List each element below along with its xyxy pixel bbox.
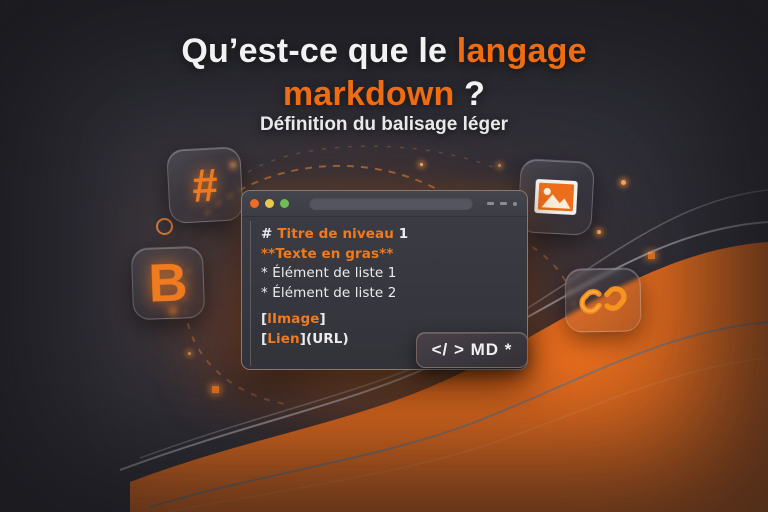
restore-icon[interactable]: [500, 202, 507, 205]
poster-canvas: Qu’est-ce que le langage markdown ? Défi…: [0, 0, 768, 512]
code-content: # Titre de niveau 1 **Texte en gras** * …: [261, 225, 521, 349]
tile-link[interactable]: [564, 267, 641, 332]
maximize-button[interactable]: [280, 199, 289, 208]
title-highlight-1: langage: [457, 32, 587, 70]
code-token: 1: [394, 226, 408, 242]
tile-image[interactable]: [517, 158, 595, 236]
code-token: **Texte en gras**: [261, 246, 393, 262]
more-options-icon[interactable]: [513, 202, 517, 206]
image-icon: [533, 178, 579, 216]
markdown-badge-label: </ > MD *: [432, 340, 513, 360]
tile-bold[interactable]: B: [131, 246, 205, 320]
title-plain-1: Qu’est-ce que le: [181, 32, 456, 70]
code-blank-line: [261, 303, 521, 310]
code-line-list-2: * Élément de liste 2: [261, 284, 521, 304]
page-subtitle: Définition du balisage léger: [0, 114, 768, 136]
title-highlight-2: markdown: [283, 75, 455, 113]
bold-icon: B: [148, 255, 189, 310]
code-line-list-1: * Élément de liste 1: [261, 264, 521, 284]
link-icon: [579, 284, 628, 317]
code-token: ]: [320, 311, 326, 327]
code-token: * Élément de liste 2: [261, 285, 396, 301]
close-button[interactable]: [250, 199, 259, 208]
page-title: Qu’est-ce que le langage markdown ?: [0, 30, 768, 116]
code-token: Lien: [267, 331, 299, 347]
hash-icon: #: [191, 161, 219, 208]
code-token: lImage: [267, 311, 319, 327]
minimize-icon[interactable]: [487, 202, 494, 205]
code-line-image: [lImage]: [261, 310, 521, 330]
minimize-button[interactable]: [265, 199, 274, 208]
address-bar[interactable]: [309, 197, 473, 210]
editor-gutter-line: [250, 221, 251, 366]
code-token: ](URL): [300, 331, 349, 347]
tile-hash[interactable]: #: [166, 146, 244, 224]
code-line-heading: # Titre de niveau 1: [261, 225, 521, 245]
code-token: * Élément de liste 1: [261, 265, 396, 281]
window-titlebar: [242, 191, 527, 217]
window-controls[interactable]: [487, 202, 519, 206]
code-token: Titre de niveau: [277, 226, 394, 242]
code-token: #: [261, 226, 277, 242]
code-line-bold: **Texte en gras**: [261, 245, 521, 265]
markdown-badge[interactable]: </ > MD *: [416, 332, 528, 368]
title-plain-2: ?: [455, 75, 486, 113]
